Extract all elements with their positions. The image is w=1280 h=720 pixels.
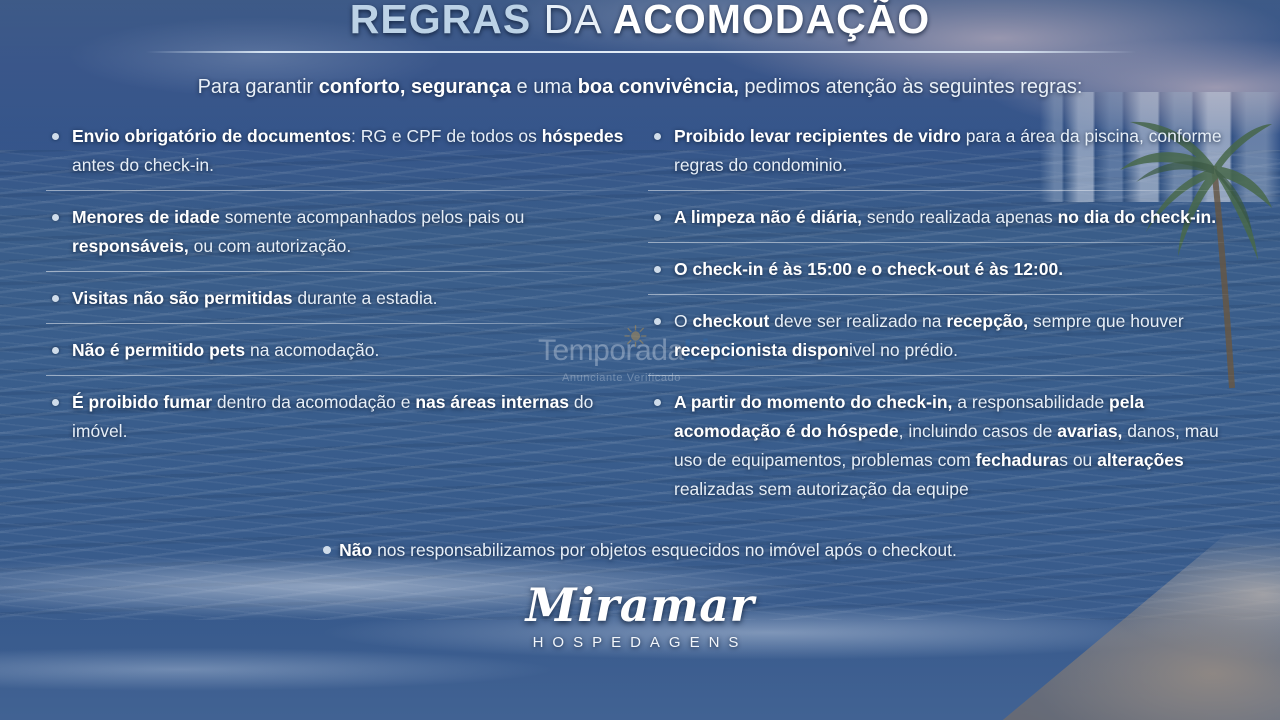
bullet-icon xyxy=(52,295,59,302)
rule-item: Não é permitido pets na acomodação. xyxy=(46,336,636,365)
closing-note: Não nos responsabilizamos por objetos es… xyxy=(0,537,1280,563)
rule-divider xyxy=(46,271,636,272)
bullet-icon xyxy=(654,214,661,221)
bullet-icon xyxy=(52,133,59,140)
rule-item: A limpeza não é diária, sendo realizada … xyxy=(648,203,1248,232)
page-title: REGRAS DA ACOMODAÇÃO xyxy=(0,0,1280,43)
brand-logo: Miramar HOSPEDAGENS xyxy=(0,578,1280,651)
rule-divider xyxy=(46,190,636,191)
rule-text-4: s ou xyxy=(1059,450,1097,470)
closing-text: nos responsabilizamos por objetos esquec… xyxy=(372,540,957,560)
rule-bold-1: Não é permitido pets xyxy=(72,340,245,360)
rule-bold-1: Menores de idade xyxy=(72,207,220,227)
intro-line: Para garantir conforto, segurança e uma … xyxy=(0,76,1280,99)
rule-text-2: ou com autorização. xyxy=(189,236,351,256)
rule-divider xyxy=(46,323,636,324)
rule-bold-1: checkout xyxy=(692,311,769,331)
rule-item: Proibido levar recipientes de vidro para… xyxy=(648,122,1248,180)
rule-divider xyxy=(648,375,1248,376)
rule-text-4: ivel no prédio. xyxy=(849,340,958,360)
rule-bold-3: recepcionista dispon xyxy=(674,340,849,360)
rule-item: Envio obrigatório de documentos: RG e CP… xyxy=(46,122,636,180)
intro-e: pedimos atenção às seguintes regras: xyxy=(739,76,1083,98)
rule-bold-1: Proibido levar recipientes de vidro xyxy=(674,126,961,146)
logo-wordmark: Miramar xyxy=(0,578,1280,632)
rule-bold-5: alterações xyxy=(1097,450,1184,470)
rule-divider xyxy=(648,190,1248,191)
rule-item: O check-in é às 15:00 e o check-out é às… xyxy=(648,255,1248,284)
rule-item: Menores de idade somente acompanhados pe… xyxy=(46,203,636,261)
rules-column-right: Proibido levar recipientes de vidro para… xyxy=(648,122,1248,504)
title-divider xyxy=(146,51,1136,53)
rule-bold-2: hóspedes xyxy=(542,126,624,146)
rule-text-1: dentro da acomodação e xyxy=(212,392,415,412)
bullet-icon xyxy=(654,266,661,273)
rule-bold-1: É proibido fumar xyxy=(72,392,212,412)
rule-bold-2: nas áreas internas xyxy=(415,392,569,412)
rule-text-3: sempre que houver xyxy=(1028,311,1184,331)
rule-bold-1: O check-in é às 15:00 e o check-out é às… xyxy=(674,259,1063,279)
rule-text-1: : RG e CPF de todos os xyxy=(351,126,542,146)
rule-bold-4: fechadura xyxy=(976,450,1060,470)
rule-bold-3: avarias, xyxy=(1057,421,1122,441)
bullet-icon xyxy=(654,133,661,140)
intro-b: conforto, segurança xyxy=(319,76,511,98)
title-part-regras: REGRAS xyxy=(350,0,544,42)
rule-item: Visitas não são permitidas durante a est… xyxy=(46,284,636,313)
rule-bold-1: A limpeza não é diária, xyxy=(674,207,862,227)
rule-bold-1: Visitas não são permitidas xyxy=(72,288,292,308)
bullet-icon xyxy=(654,399,661,406)
rule-bold-2: responsáveis, xyxy=(72,236,189,256)
title-part-da: DA xyxy=(544,0,613,42)
rules-column-left: Envio obrigatório de documentos: RG e CP… xyxy=(46,122,636,446)
rule-divider xyxy=(648,294,1248,295)
rule-text-1: sendo realizada apenas xyxy=(862,207,1058,227)
rule-text-1: a responsabilidade xyxy=(952,392,1109,412)
intro-d: boa convivência, xyxy=(578,76,739,98)
bullet-icon xyxy=(323,546,331,554)
rule-text-1: somente acompanhados pelos pais ou xyxy=(220,207,525,227)
rule-text-2: , incluindo casos de xyxy=(899,421,1058,441)
poster-content: REGRAS DA ACOMODAÇÃO Para garantir confo… xyxy=(0,0,1280,720)
bullet-icon xyxy=(52,347,59,354)
logo-subtitle: HOSPEDAGENS xyxy=(0,634,1280,651)
rule-text-2: antes do check-in. xyxy=(72,155,214,175)
bullet-icon xyxy=(654,318,661,325)
bullet-icon xyxy=(52,399,59,406)
rule-item: A partir do momento do check-in, a respo… xyxy=(648,388,1248,504)
rule-text-1: O xyxy=(674,311,692,331)
intro-c: e uma xyxy=(511,76,578,98)
rule-bold-2: no dia do check-in. xyxy=(1058,207,1217,227)
rule-item: É proibido fumar dentro da acomodação e … xyxy=(46,388,636,446)
rule-text-2: deve ser realizado na xyxy=(769,311,946,331)
bullet-icon xyxy=(52,214,59,221)
rule-bold-1: A partir do momento do check-in, xyxy=(674,392,952,412)
closing-bold: Não xyxy=(339,540,372,560)
rule-divider xyxy=(648,242,1248,243)
title-part-acomodacao: ACOMODAÇÃO xyxy=(613,0,930,42)
rule-bold-2: recepção, xyxy=(946,311,1028,331)
accommodation-rules-poster: ☀ TemporadaLivre Anunciante Verificado R… xyxy=(0,0,1280,720)
rule-text-5: realizadas sem autorização da equipe xyxy=(674,479,969,499)
intro-a: Para garantir xyxy=(198,76,319,98)
rule-item: O checkout deve ser realizado na recepçã… xyxy=(648,307,1248,365)
rule-text-1: durante a estadia. xyxy=(292,288,437,308)
rule-divider xyxy=(46,375,636,376)
rule-text-1: na acomodação. xyxy=(245,340,379,360)
rule-bold-1: Envio obrigatório de documentos xyxy=(72,126,351,146)
